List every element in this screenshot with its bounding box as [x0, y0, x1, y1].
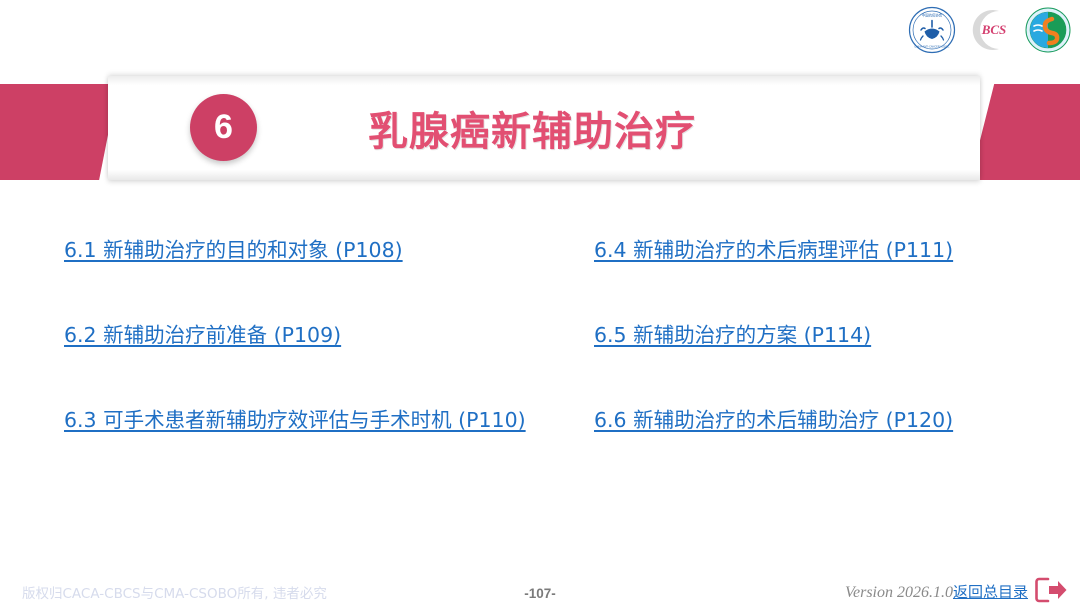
section-banner: 6 乳腺癌新辅助治疗: [0, 76, 1080, 180]
banner-left-shape: [0, 84, 118, 180]
logo-strip: 中国抗癌协会 CHINA ANTI-CANCER ASSOC. BCS: [908, 6, 1072, 54]
svg-text:中国抗癌协会: 中国抗癌协会: [922, 13, 943, 18]
svg-text:CHINA ANTI-CANCER ASSOC.: CHINA ANTI-CANCER ASSOC.: [914, 46, 950, 49]
toc-link-6-1[interactable]: 6.1 新辅助治疗的目的和对象 (P108): [64, 235, 594, 265]
svg-text:BCS: BCS: [981, 22, 1007, 37]
caca-logo: 中国抗癌协会 CHINA ANTI-CANCER ASSOC.: [908, 6, 956, 54]
version-label: Version 2026.1.0: [845, 584, 953, 602]
csobo-logo: [1024, 6, 1072, 54]
page-title: 乳腺癌新辅助治疗: [368, 99, 696, 157]
banner-center-bar: 6 乳腺癌新辅助治疗: [108, 76, 980, 180]
slide-footer: 版权归CACA-CBCS与CMA-CSOBO所有, 违者必究 -107- Ver…: [0, 566, 1080, 610]
bcs-logo: BCS: [966, 6, 1014, 54]
footer-right-group: Version 2026.1.0 返回总目录: [845, 576, 1068, 604]
slide-root: 中国抗癌协会 CHINA ANTI-CANCER ASSOC. BCS: [0, 0, 1080, 610]
toc-link-6-4[interactable]: 6.4 新辅助治疗的术后病理评估 (P111): [594, 235, 1022, 265]
toc-link-6-5[interactable]: 6.5 新辅助治疗的方案 (P114): [594, 320, 1022, 350]
toc-link-6-2[interactable]: 6.2 新辅助治疗前准备 (P109): [64, 320, 594, 350]
exit-arrow-icon[interactable]: [1034, 576, 1068, 604]
banner-right-shape: [970, 84, 1080, 180]
toc-list: 6.1 新辅助治疗的目的和对象 (P108) 6.4 新辅助治疗的术后病理评估 …: [0, 235, 1080, 490]
toc-link-6-3[interactable]: 6.3 可手术患者新辅助疗效评估与手术时机 (P110): [64, 405, 594, 435]
toc-link-6-6[interactable]: 6.6 新辅助治疗的术后辅助治疗 (P120): [594, 405, 1022, 435]
section-number-badge: 6: [190, 94, 257, 161]
back-to-toc-link[interactable]: 返回总目录: [953, 581, 1028, 602]
